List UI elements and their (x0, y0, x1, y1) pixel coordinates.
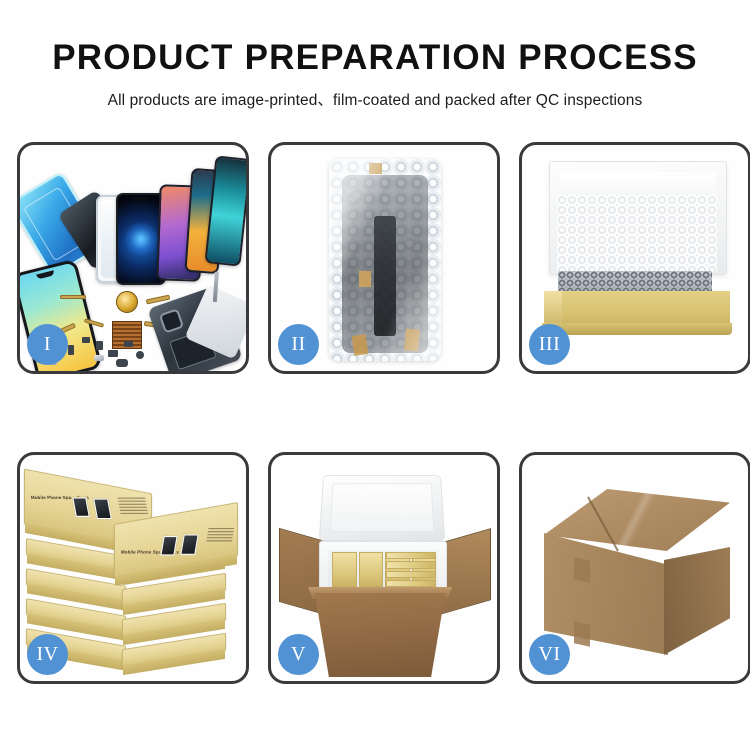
process-step-grid: I II (17, 142, 733, 684)
spec-line (207, 534, 233, 535)
carton-tape-upper (574, 557, 590, 582)
panel-products-and-parts: I (17, 142, 249, 374)
bubble-wrap-bag (329, 159, 441, 361)
panel-badge-3: III (529, 324, 570, 365)
panel-badge-1: I (27, 324, 68, 365)
kraft-box-tray-front (542, 323, 732, 335)
swatch-screen (94, 500, 110, 518)
panel-badge-5: V (278, 634, 319, 675)
component-chip-3 (108, 350, 118, 357)
swatch-screen (73, 498, 88, 515)
foam-box-lid (319, 475, 445, 541)
panel-badge-4: IV (27, 634, 68, 675)
kraft-box-item (386, 580, 436, 587)
box-artwork-swatch-a2 (92, 498, 113, 520)
carton-tape-lower (574, 621, 590, 646)
flex-cable-1 (60, 295, 86, 299)
page-title: PRODUCT PREPARATION PROCESS (0, 40, 750, 75)
kraft-box-tray (544, 291, 730, 327)
carton-body (309, 593, 451, 677)
metal-bracket (94, 355, 104, 361)
plastic-sheen (329, 159, 441, 361)
speaker-coil-part (116, 291, 138, 313)
component-camera (116, 359, 128, 367)
box-spec-lines-a (118, 498, 149, 516)
box-side (123, 649, 225, 675)
component-chip-1 (82, 337, 90, 343)
component-chip-5 (68, 345, 74, 355)
carton-side-face (664, 547, 730, 655)
header: PRODUCT PREPARATION PROCESS All products… (0, 0, 750, 110)
panel-badge-2: II (278, 324, 319, 365)
panel-badge-6: VI (529, 634, 570, 675)
kraft-box-item (332, 552, 357, 587)
kraft-box-item (386, 552, 436, 559)
swatch-screen (182, 535, 198, 553)
spec-line (120, 510, 148, 511)
panel-foam-box-in-carton: V (268, 452, 500, 684)
kraft-box-item (386, 571, 436, 578)
component-chip-4 (124, 341, 133, 347)
wallpaper-glow (124, 222, 158, 256)
spec-line (207, 537, 233, 538)
panel-sealed-carton: VI (519, 452, 750, 684)
box-artwork-swatch-b2 (179, 533, 200, 555)
spec-line (208, 531, 234, 532)
spec-line (208, 528, 234, 529)
box-spec-lines-b (206, 528, 234, 543)
spec-line (118, 498, 146, 499)
panel-foam-lined-box: III (519, 142, 750, 374)
phone-notch (133, 197, 149, 200)
carton-front-face (544, 533, 668, 655)
swatch-screen (162, 537, 177, 554)
foam-box (319, 541, 447, 595)
product-preparation-infographic: PRODUCT PREPARATION PROCESS All products… (0, 0, 750, 750)
kraft-box-item (386, 561, 436, 568)
kraft-boxes-horizontal (386, 552, 436, 587)
panel-bubble-wrapped-part: II (268, 142, 500, 374)
spec-line (118, 501, 146, 502)
component-button (136, 351, 144, 359)
spec-line (119, 504, 147, 505)
spec-line (119, 507, 147, 508)
kraft-box-item (359, 552, 384, 587)
page-subtitle: All products are image-printed、film-coat… (0, 88, 750, 110)
camera-module (159, 308, 184, 333)
foam-sheet (557, 195, 717, 273)
component-chip-2 (96, 341, 103, 350)
spec-line (206, 540, 232, 541)
panel-stacked-retail-boxes: Mobile Phone Spare Parts Mobile Phone Sp… (17, 452, 249, 684)
sealed-carton (544, 489, 730, 655)
spec-line (120, 513, 148, 514)
